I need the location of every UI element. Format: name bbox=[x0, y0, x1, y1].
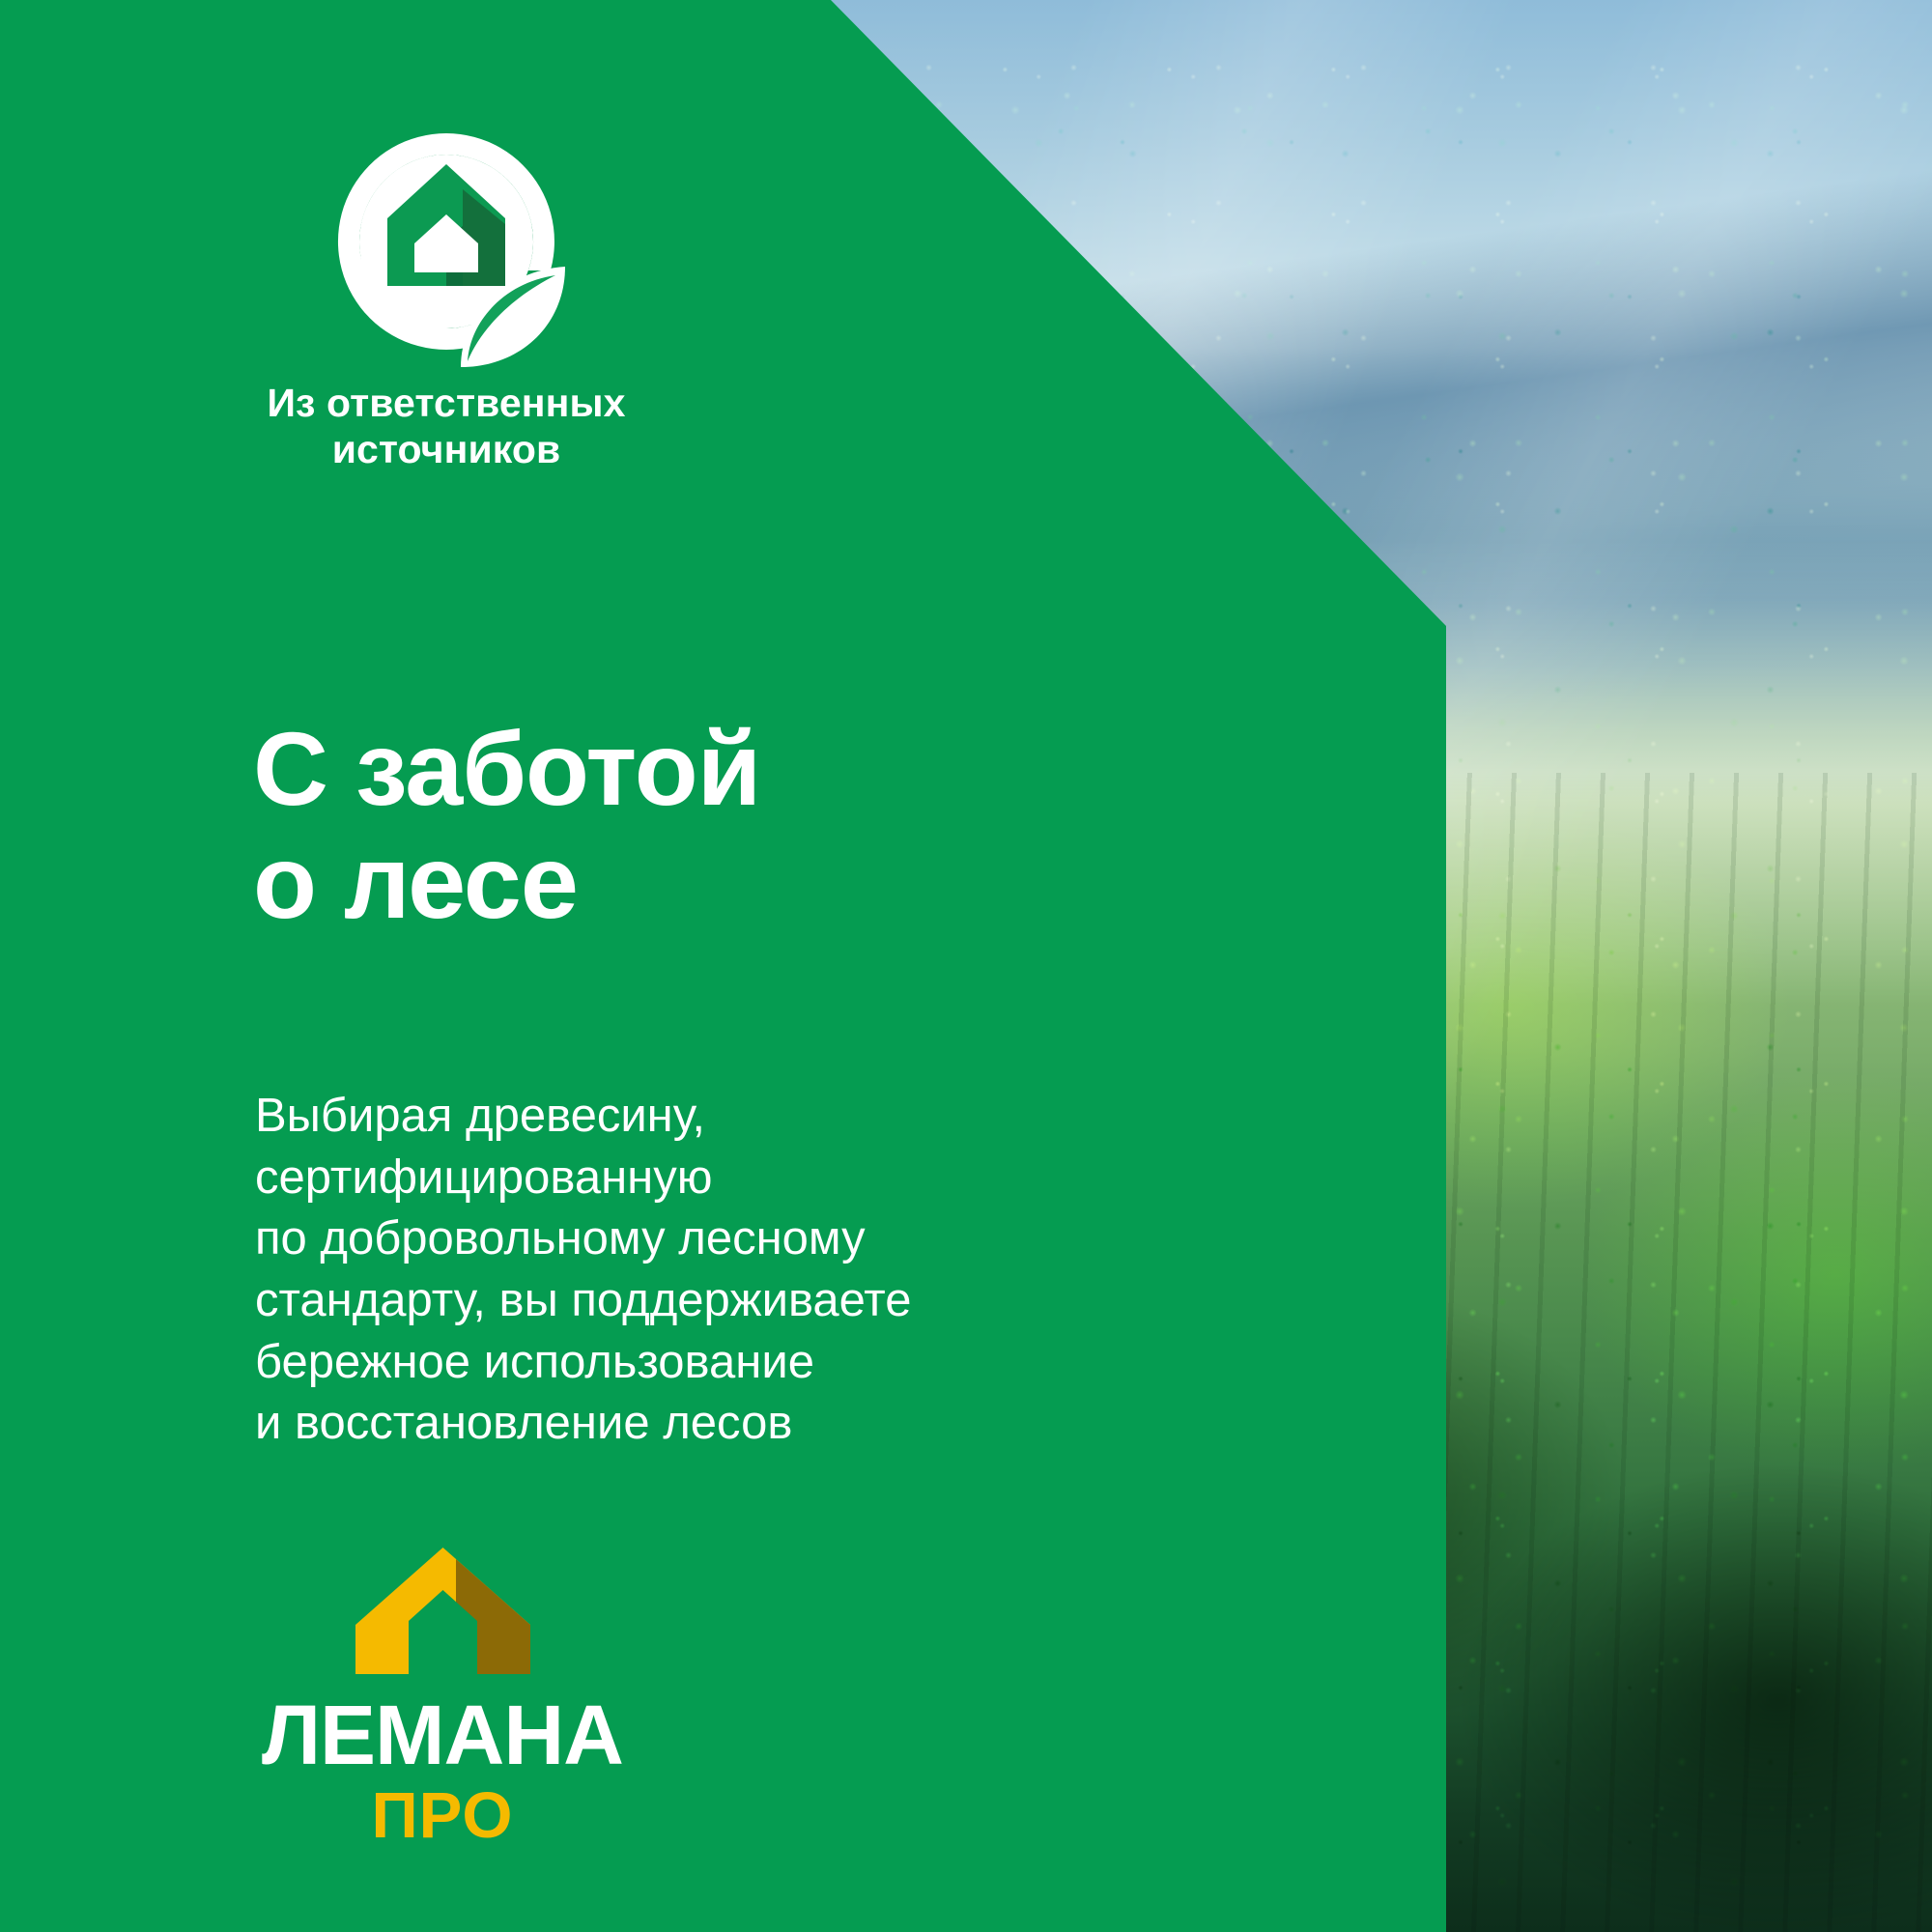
body-paragraph: Выбирая древесину, сертифицированную по … bbox=[255, 1086, 911, 1455]
eco-leaf-house-circle-icon bbox=[316, 126, 577, 367]
brand-name: ЛЕМАНА bbox=[249, 1693, 636, 1777]
brand-lockup: ЛЕМАНА ПРО bbox=[249, 1546, 636, 1848]
eco-badge: Из ответственных источников bbox=[243, 126, 649, 472]
poster-canvas: Из ответственных источников С заботой о … bbox=[0, 0, 1932, 1932]
page-title: С заботой о лесе bbox=[253, 713, 760, 938]
lemana-house-icon bbox=[354, 1546, 532, 1676]
brand-subname: ПРО bbox=[249, 1783, 636, 1848]
eco-badge-caption: Из ответственных источников bbox=[243, 381, 649, 472]
poster-content: Из ответственных источников С заботой о … bbox=[0, 0, 1446, 1932]
